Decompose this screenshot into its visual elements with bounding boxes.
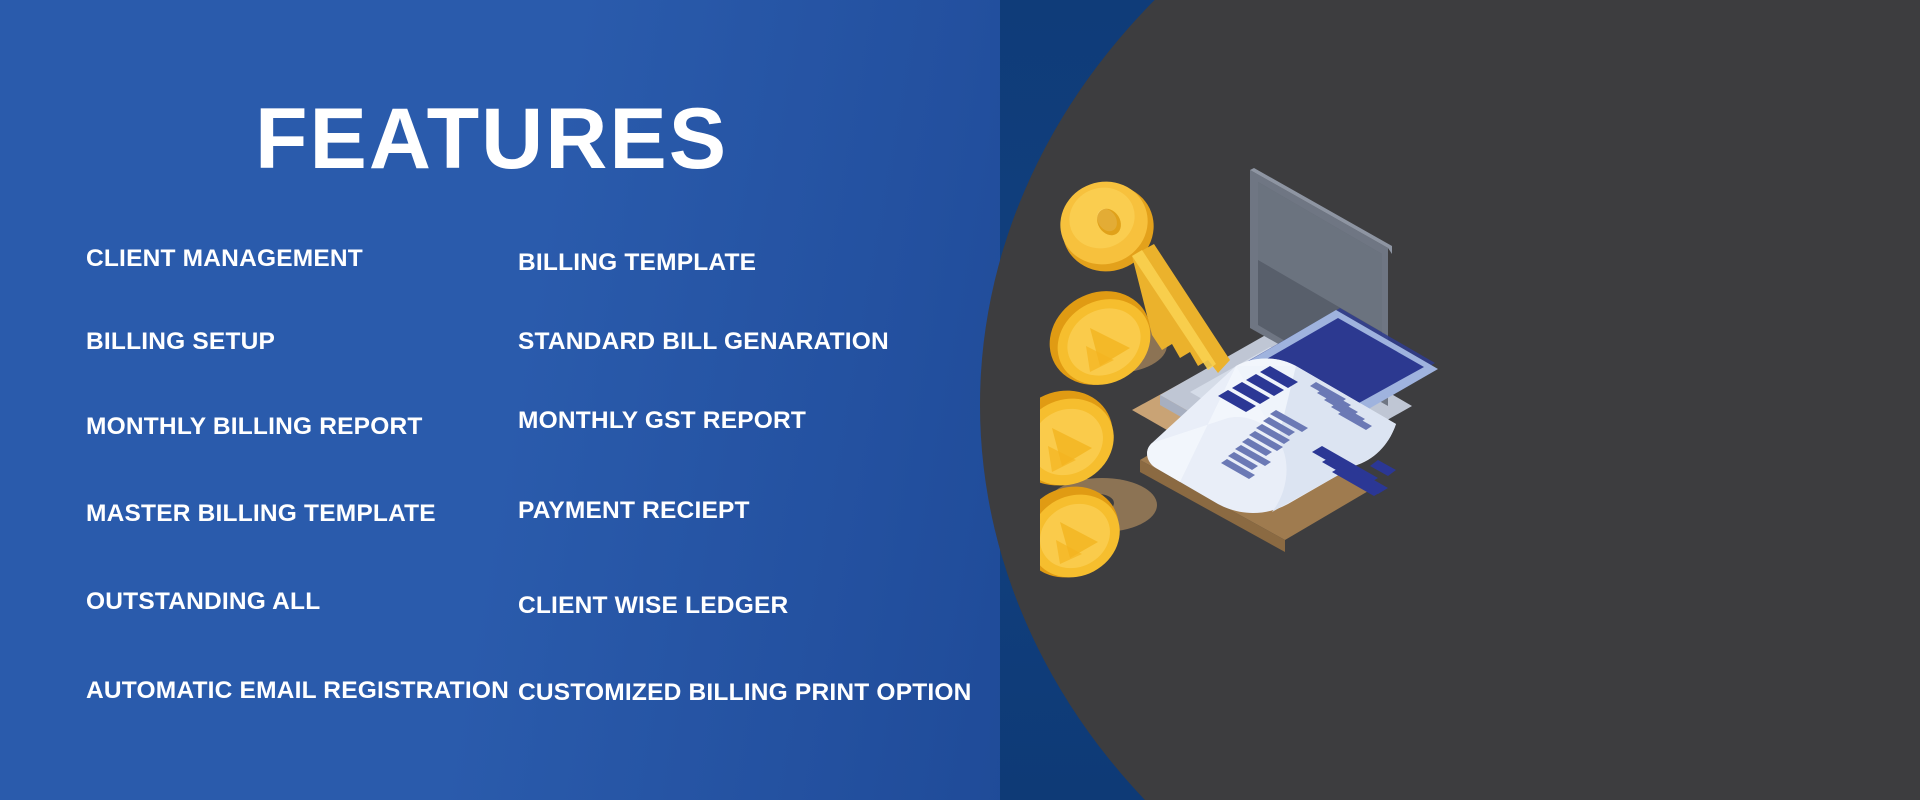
- feature-row: BILLING SETUP STANDARD BILL GENARATION: [0, 328, 1030, 411]
- feature-row: AUTOMATIC EMAIL REGISTRATION CUSTOMIZED …: [0, 660, 1030, 743]
- feature-item-outstanding-all: OUTSTANDING ALL: [86, 588, 320, 616]
- features-list: CLIENT MANAGEMENT BILLING TEMPLATE BILLI…: [0, 245, 1030, 743]
- feature-item-client-wise-ledger: CLIENT WISE LEDGER: [518, 592, 788, 620]
- feature-item-standard-bill-genaration: STANDARD BILL GENARATION: [518, 328, 889, 356]
- feature-row: CLIENT MANAGEMENT BILLING TEMPLATE: [0, 245, 1030, 328]
- feature-item-billing-template: BILLING TEMPLATE: [518, 249, 756, 277]
- feature-item-monthly-billing-report: MONTHLY BILLING REPORT: [86, 413, 423, 441]
- feature-item-payment-reciept: PAYMENT RECIEPT: [518, 497, 750, 525]
- feature-row: MASTER BILLING TEMPLATE PAYMENT RECIEPT: [0, 494, 1030, 577]
- page-title: FEATURES: [255, 96, 728, 182]
- illustration-laptop-invoice: [1040, 160, 1480, 590]
- feature-item-customized-billing-print-option: CUSTOMIZED BILLING PRINT OPTION: [518, 679, 972, 707]
- feature-item-automatic-email-registration: AUTOMATIC EMAIL REGISTRATION: [86, 677, 509, 705]
- slide-canvas: FEATURES CLIENT MANAGEMENT BILLING TEMPL…: [0, 0, 1920, 800]
- feature-item-client-management: CLIENT MANAGEMENT: [86, 245, 363, 273]
- background-dark-fill: [1640, 0, 1920, 800]
- feature-row: OUTSTANDING ALL CLIENT WISE LEDGER: [0, 577, 1030, 660]
- feature-item-billing-setup: BILLING SETUP: [86, 328, 275, 356]
- content-area: FEATURES CLIENT MANAGEMENT BILLING TEMPL…: [0, 0, 1150, 800]
- feature-item-monthly-gst-report: MONTHLY GST REPORT: [518, 407, 806, 435]
- feature-row: MONTHLY BILLING REPORT MONTHLY GST REPOR…: [0, 411, 1030, 494]
- feature-item-master-billing-template: MASTER BILLING TEMPLATE: [86, 500, 436, 528]
